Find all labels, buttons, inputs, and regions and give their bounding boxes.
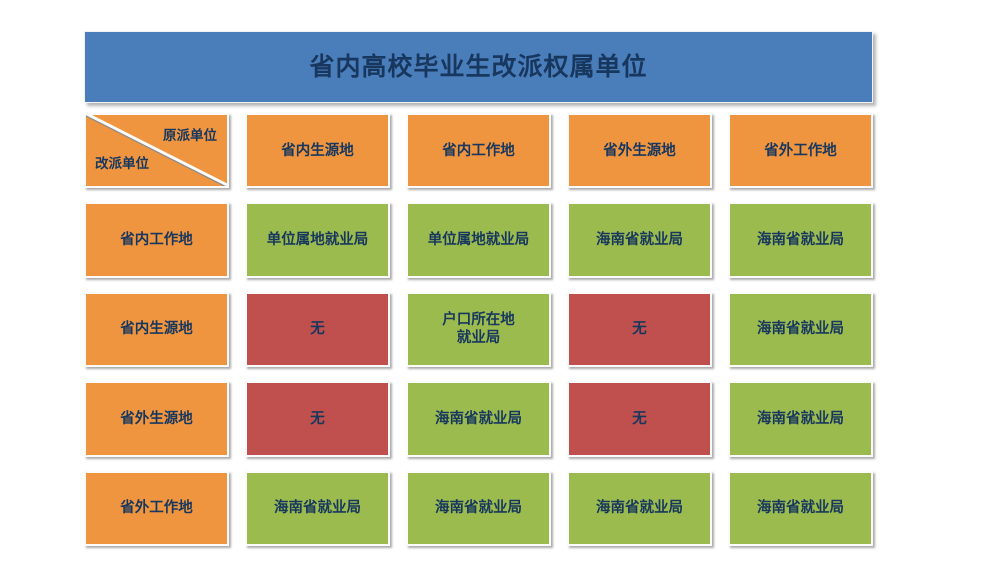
matrix-cell-value: 海南省就业局 bbox=[596, 231, 683, 249]
row-header-label: 省内生源地 bbox=[120, 320, 193, 338]
assignment-matrix: 原派单位 改派单位 省内生源地 省内工作地 省外生源地 省外工作地 省内工作地 … bbox=[84, 113, 873, 546]
matrix-cell-value: 海南省就业局 bbox=[274, 499, 361, 517]
matrix-row-header-1: 省内生源地 bbox=[84, 292, 229, 367]
matrix-cell-value: 海南省就业局 bbox=[757, 410, 844, 428]
matrix-cell-r0c1: 单位属地就业局 bbox=[406, 202, 551, 277]
column-header-label: 省内工作地 bbox=[442, 142, 515, 160]
slide-title-banner: 省内高校毕业生改派权属单位 bbox=[84, 31, 873, 103]
matrix-cell-r1c3: 海南省就业局 bbox=[728, 292, 873, 367]
matrix-cell-value: 户口所在地 就业局 bbox=[442, 311, 515, 347]
matrix-column-header-3: 省外工作地 bbox=[728, 113, 873, 188]
matrix-cell-value: 单位属地就业局 bbox=[267, 231, 369, 249]
matrix-cell-value: 海南省就业局 bbox=[435, 499, 522, 517]
matrix-cell-r3c1: 海南省就业局 bbox=[406, 471, 551, 546]
matrix-row-header-2: 省外生源地 bbox=[84, 381, 229, 456]
row-header-label: 省外工作地 bbox=[120, 499, 193, 517]
matrix-cell-value: 无 bbox=[310, 320, 325, 338]
matrix-corner-header: 原派单位 改派单位 bbox=[84, 113, 229, 188]
column-header-label: 省内生源地 bbox=[281, 142, 354, 160]
matrix-cell-r2c3: 海南省就业局 bbox=[728, 381, 873, 456]
matrix-cell-r0c0: 单位属地就业局 bbox=[245, 202, 390, 277]
matrix-cell-r3c0: 海南省就业局 bbox=[245, 471, 390, 546]
matrix-row-axis-label: 改派单位 bbox=[95, 156, 149, 172]
row-header-label: 省外生源地 bbox=[120, 410, 193, 428]
matrix-row-header-0: 省内工作地 bbox=[84, 202, 229, 277]
matrix-column-header-2: 省外生源地 bbox=[567, 113, 712, 188]
matrix-cell-r1c0: 无 bbox=[245, 292, 390, 367]
matrix-cell-value: 海南省就业局 bbox=[757, 499, 844, 517]
matrix-cell-value: 无 bbox=[310, 410, 325, 428]
diagonal-divider-icon bbox=[86, 115, 227, 186]
slide-canvas: 省内高校毕业生改派权属单位 原派单位 改派单位 省内生源地 省内工作地 省外生源… bbox=[0, 0, 1000, 569]
column-header-label: 省外生源地 bbox=[603, 142, 676, 160]
matrix-column-header-1: 省内工作地 bbox=[406, 113, 551, 188]
matrix-cell-value: 海南省就业局 bbox=[757, 231, 844, 249]
matrix-cell-r0c2: 海南省就业局 bbox=[567, 202, 712, 277]
matrix-cell-r1c1: 户口所在地 就业局 bbox=[406, 292, 551, 367]
page-title: 省内高校毕业生改派权属单位 bbox=[309, 53, 647, 81]
matrix-cell-value: 海南省就业局 bbox=[435, 410, 522, 428]
matrix-cell-value: 无 bbox=[632, 410, 647, 428]
matrix-row-header-3: 省外工作地 bbox=[84, 471, 229, 546]
matrix-cell-r1c2: 无 bbox=[567, 292, 712, 367]
matrix-column-axis-label: 原派单位 bbox=[163, 128, 217, 144]
matrix-cell-value: 海南省就业局 bbox=[596, 499, 683, 517]
matrix-cell-r3c2: 海南省就业局 bbox=[567, 471, 712, 546]
matrix-cell-value: 无 bbox=[632, 320, 647, 338]
matrix-cell-r2c0: 无 bbox=[245, 381, 390, 456]
column-header-label: 省外工作地 bbox=[764, 142, 837, 160]
matrix-column-header-0: 省内生源地 bbox=[245, 113, 390, 188]
row-header-label: 省内工作地 bbox=[120, 231, 193, 249]
matrix-cell-value: 单位属地就业局 bbox=[428, 231, 530, 249]
matrix-cell-r2c2: 无 bbox=[567, 381, 712, 456]
matrix-cell-value: 海南省就业局 bbox=[757, 320, 844, 338]
matrix-cell-r3c3: 海南省就业局 bbox=[728, 471, 873, 546]
matrix-cell-r0c3: 海南省就业局 bbox=[728, 202, 873, 277]
matrix-cell-r2c1: 海南省就业局 bbox=[406, 381, 551, 456]
